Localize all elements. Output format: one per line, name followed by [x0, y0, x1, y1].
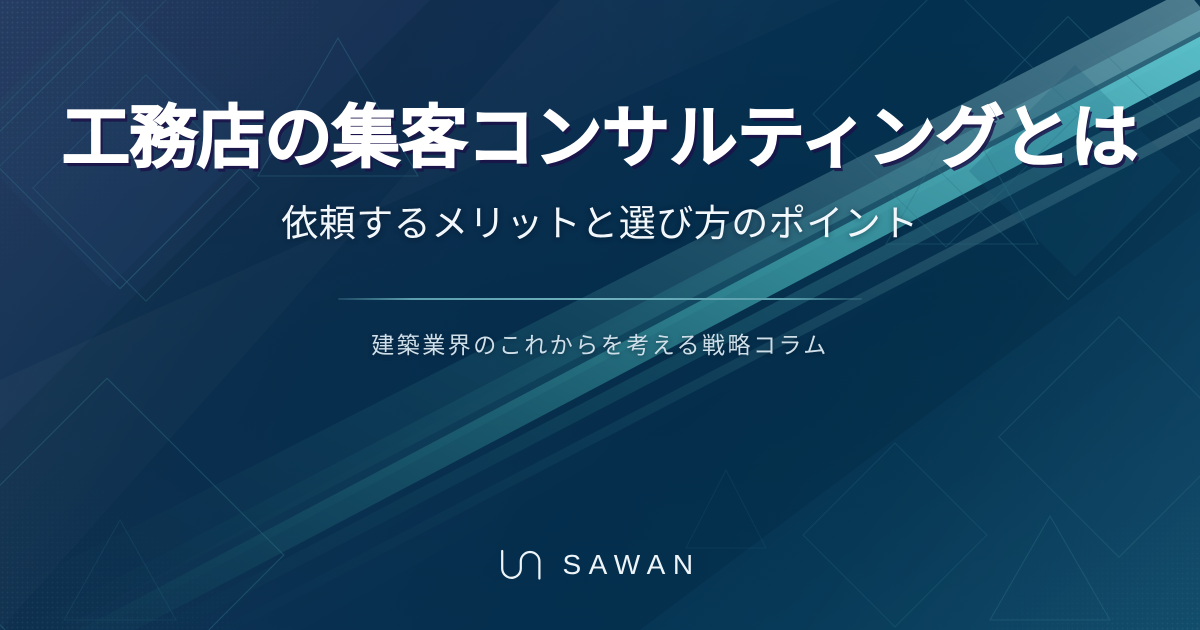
page-tagline: 建築業界のこれからを考える戦略コラム	[371, 326, 829, 360]
page-subtitle: 依頼するメリットと選び方のポイント	[281, 202, 919, 246]
page-title: 工務店の集客コンサルティングとは	[62, 104, 1138, 172]
og-image-card: 工務店の集客コンサルティングとは 依頼するメリットと選び方のポイント 建築業界の…	[0, 0, 1200, 630]
card-content: 工務店の集客コンサルティングとは 依頼するメリットと選び方のポイント 建築業界の…	[0, 0, 1200, 630]
title-divider	[338, 298, 862, 300]
